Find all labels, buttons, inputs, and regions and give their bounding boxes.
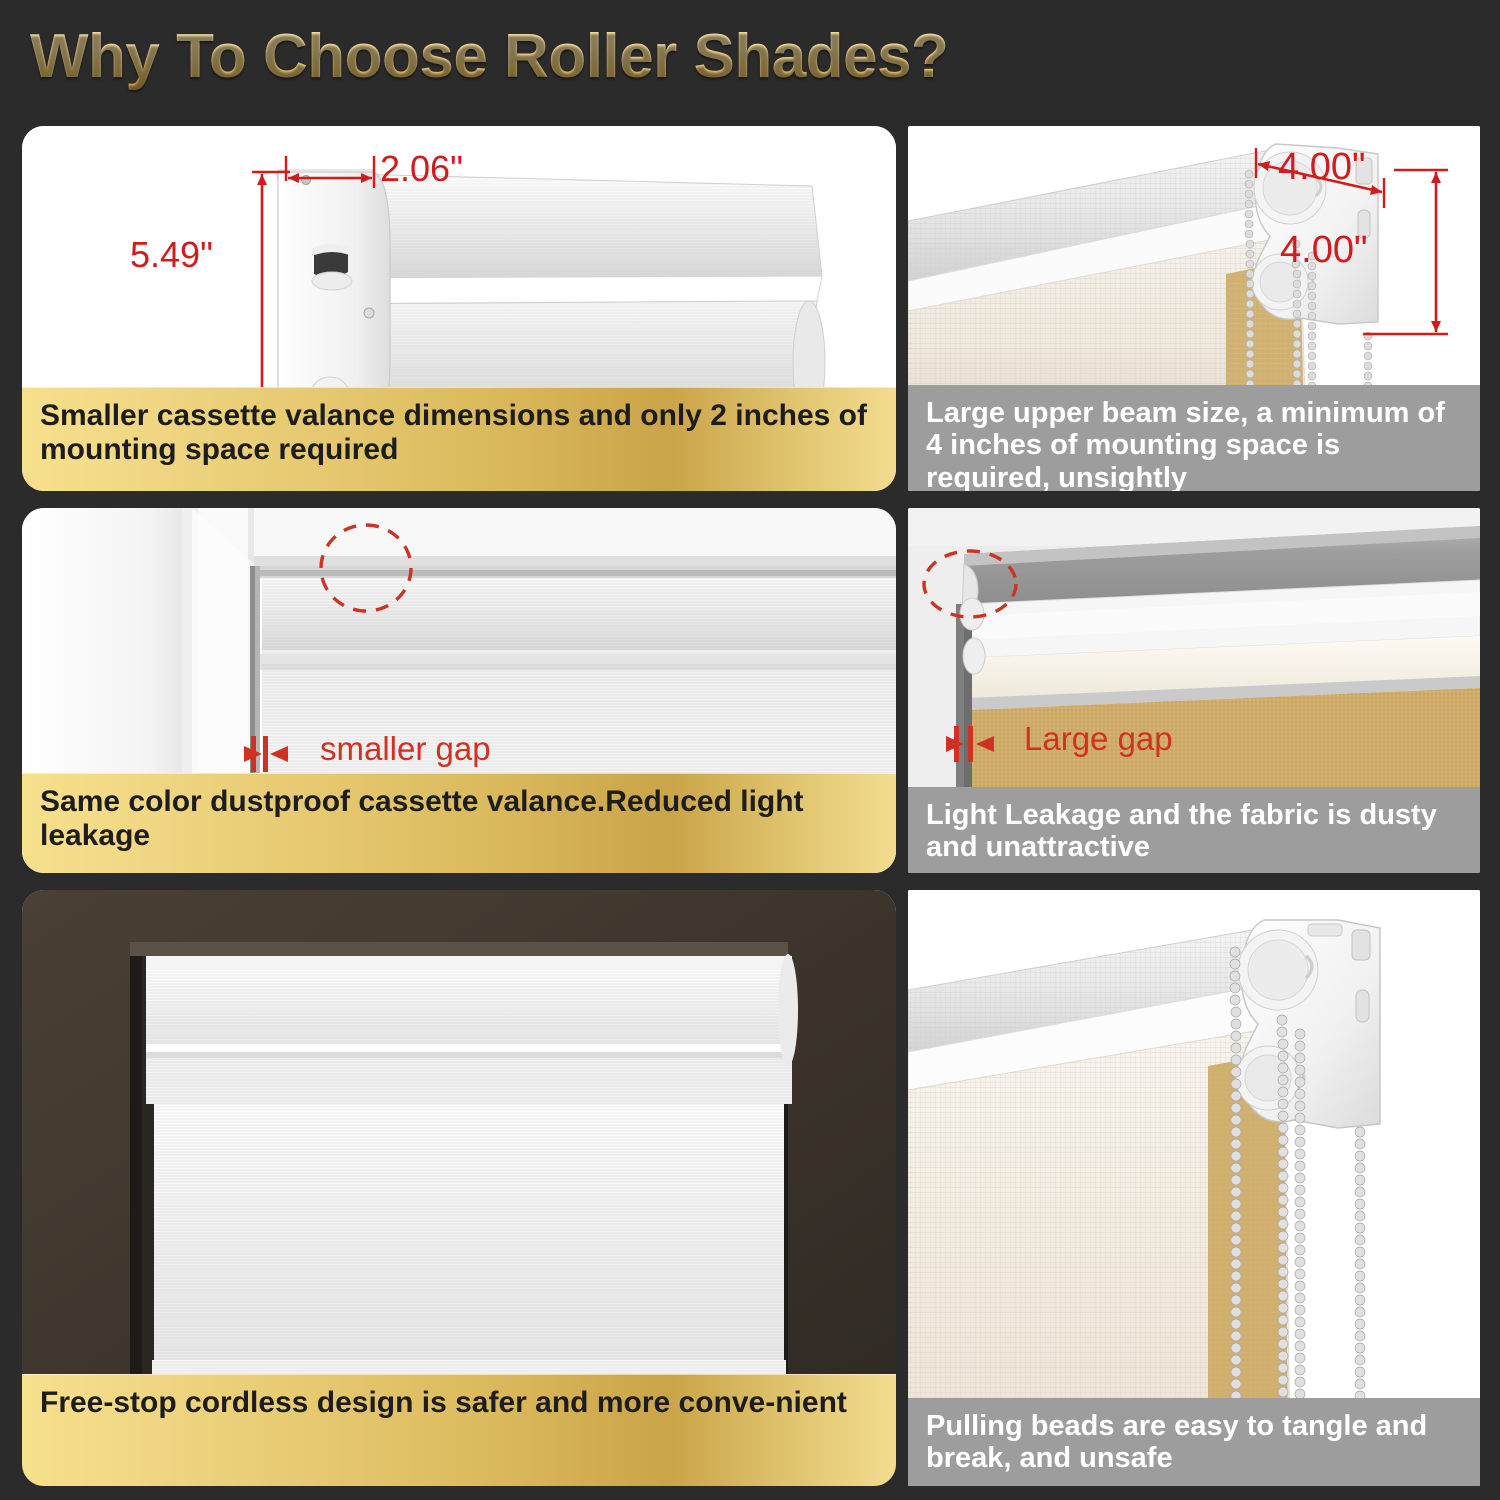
dimension-label-height: 5.49" — [130, 234, 213, 276]
caption-pro-cordless-design: Free-stop cordless design is safer and m… — [22, 1374, 896, 1486]
panel-pro-dustproof-valance[interactable]: smaller gap Same color dustproof cassett… — [22, 508, 896, 873]
caption-con-beam-size: Large upper beam size, a minimum of 4 in… — [908, 385, 1480, 491]
panel-pro-cassette-size[interactable]: 2.06" 5.49" Smaller cassette valance dim… — [22, 126, 896, 491]
photo-bead-chain-shade — [908, 890, 1480, 1486]
panel-con-light-leakage[interactable]: Large gap Light Leakage and the fabric i… — [908, 508, 1480, 873]
gap-annotation-label: smaller gap — [320, 730, 491, 768]
gap-annotation-label: Large gap — [1024, 720, 1173, 758]
dimension-label-height: 4.00" — [1280, 229, 1367, 272]
caption-pro-dustproof-valance: Same color dustproof cassette valance.Re… — [22, 773, 896, 873]
panel-con-beam-size[interactable]: 4.00" 4.00" Large upper beam size, a min… — [908, 126, 1480, 491]
dimension-label-width: 2.06" — [380, 148, 463, 190]
comparison-grid: 2.06" 5.49" Smaller cassette valance dim… — [0, 112, 1500, 1500]
dimension-label-width: 4.00" — [1278, 146, 1365, 189]
bead-chain-illustration — [908, 890, 1480, 1486]
caption-pro-cassette-size: Smaller cassette valance dimensions and … — [22, 387, 896, 491]
page-header: Why To Choose Roller Shades? — [0, 0, 1500, 112]
panel-con-pulling-beads[interactable]: Pulling beads are easy to tangle and bre… — [908, 890, 1480, 1486]
caption-con-pulling-beads: Pulling beads are easy to tangle and bre… — [908, 1398, 1480, 1486]
page-title: Why To Choose Roller Shades? — [30, 21, 948, 92]
panel-pro-cordless-design[interactable]: Free-stop cordless design is safer and m… — [22, 890, 896, 1486]
caption-con-light-leakage: Light Leakage and the fabric is dusty an… — [908, 787, 1480, 873]
